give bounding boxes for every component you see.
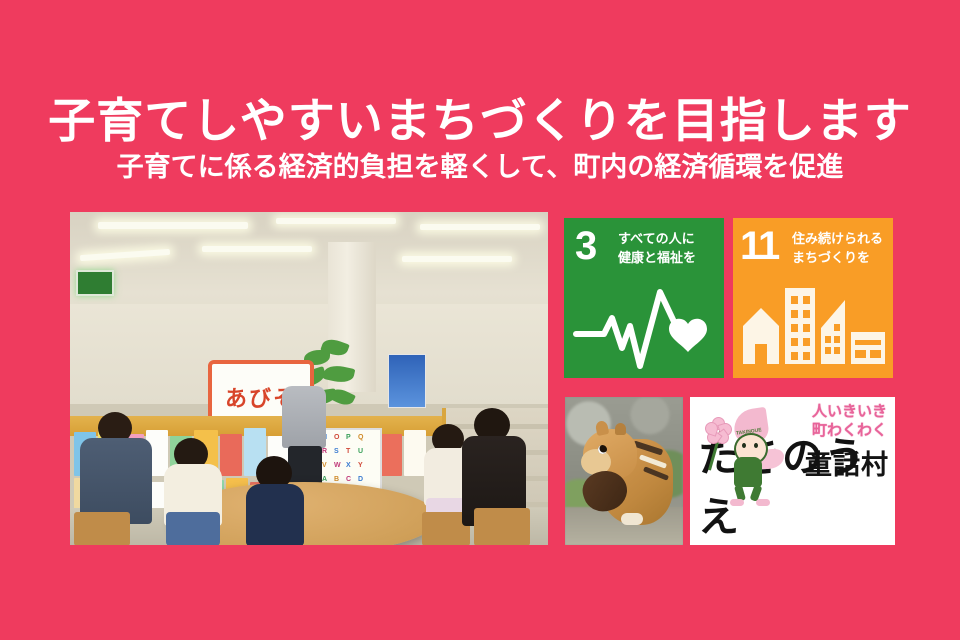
library-photo: あびそ NO bbox=[70, 212, 548, 545]
sdg-11-title: 住み続けられる まちづくりを bbox=[792, 230, 883, 268]
standing-adult-torso bbox=[282, 386, 326, 448]
page-subtitle: 子育てに係る経済的負担を軽くして、町内の経済循環を促進 bbox=[0, 152, 960, 183]
sdg-3-number: 3 bbox=[575, 226, 597, 266]
chipmunk-eye bbox=[598, 445, 607, 454]
chipmunk-paw bbox=[621, 513, 643, 525]
page-title: 子育てしやすいまちづくりを目指します bbox=[0, 96, 960, 145]
ceiling-light bbox=[420, 224, 540, 230]
ceiling-light bbox=[98, 222, 248, 229]
slide-root: 子育てしやすいまちづくりを目指します 子育てに係る経済的負担を軽くして、町内の経… bbox=[0, 0, 960, 640]
sdg-11-number: 11 bbox=[740, 226, 778, 266]
fairy-torso bbox=[734, 457, 762, 487]
wall-poster bbox=[388, 354, 426, 408]
sdg-3-title: すべての人に 健康と福祉を bbox=[618, 230, 696, 268]
city-buildings-icon bbox=[733, 282, 893, 370]
sdg-goal-11-badge[interactable]: 11 住み続けられる まちづくりを bbox=[733, 218, 893, 378]
heartbeat-heart-icon bbox=[564, 282, 724, 370]
chipmunk-ear bbox=[615, 423, 626, 435]
sdg-goal-3-badge[interactable]: 3 すべての人に 健康と福祉を bbox=[564, 218, 724, 378]
ceiling-light bbox=[276, 218, 396, 224]
cherry-blossom-icon bbox=[706, 417, 730, 441]
fairy-mascot-icon: TAKINOUE bbox=[712, 409, 786, 495]
ceiling-light bbox=[402, 256, 512, 262]
town-logo[interactable]: 人いきいき 町わくわく 童話村 たきのうえ TAKINOUE bbox=[690, 397, 895, 545]
exit-sign-icon bbox=[76, 270, 114, 296]
chipmunk-photo bbox=[565, 397, 683, 545]
ceiling-light bbox=[202, 246, 312, 252]
